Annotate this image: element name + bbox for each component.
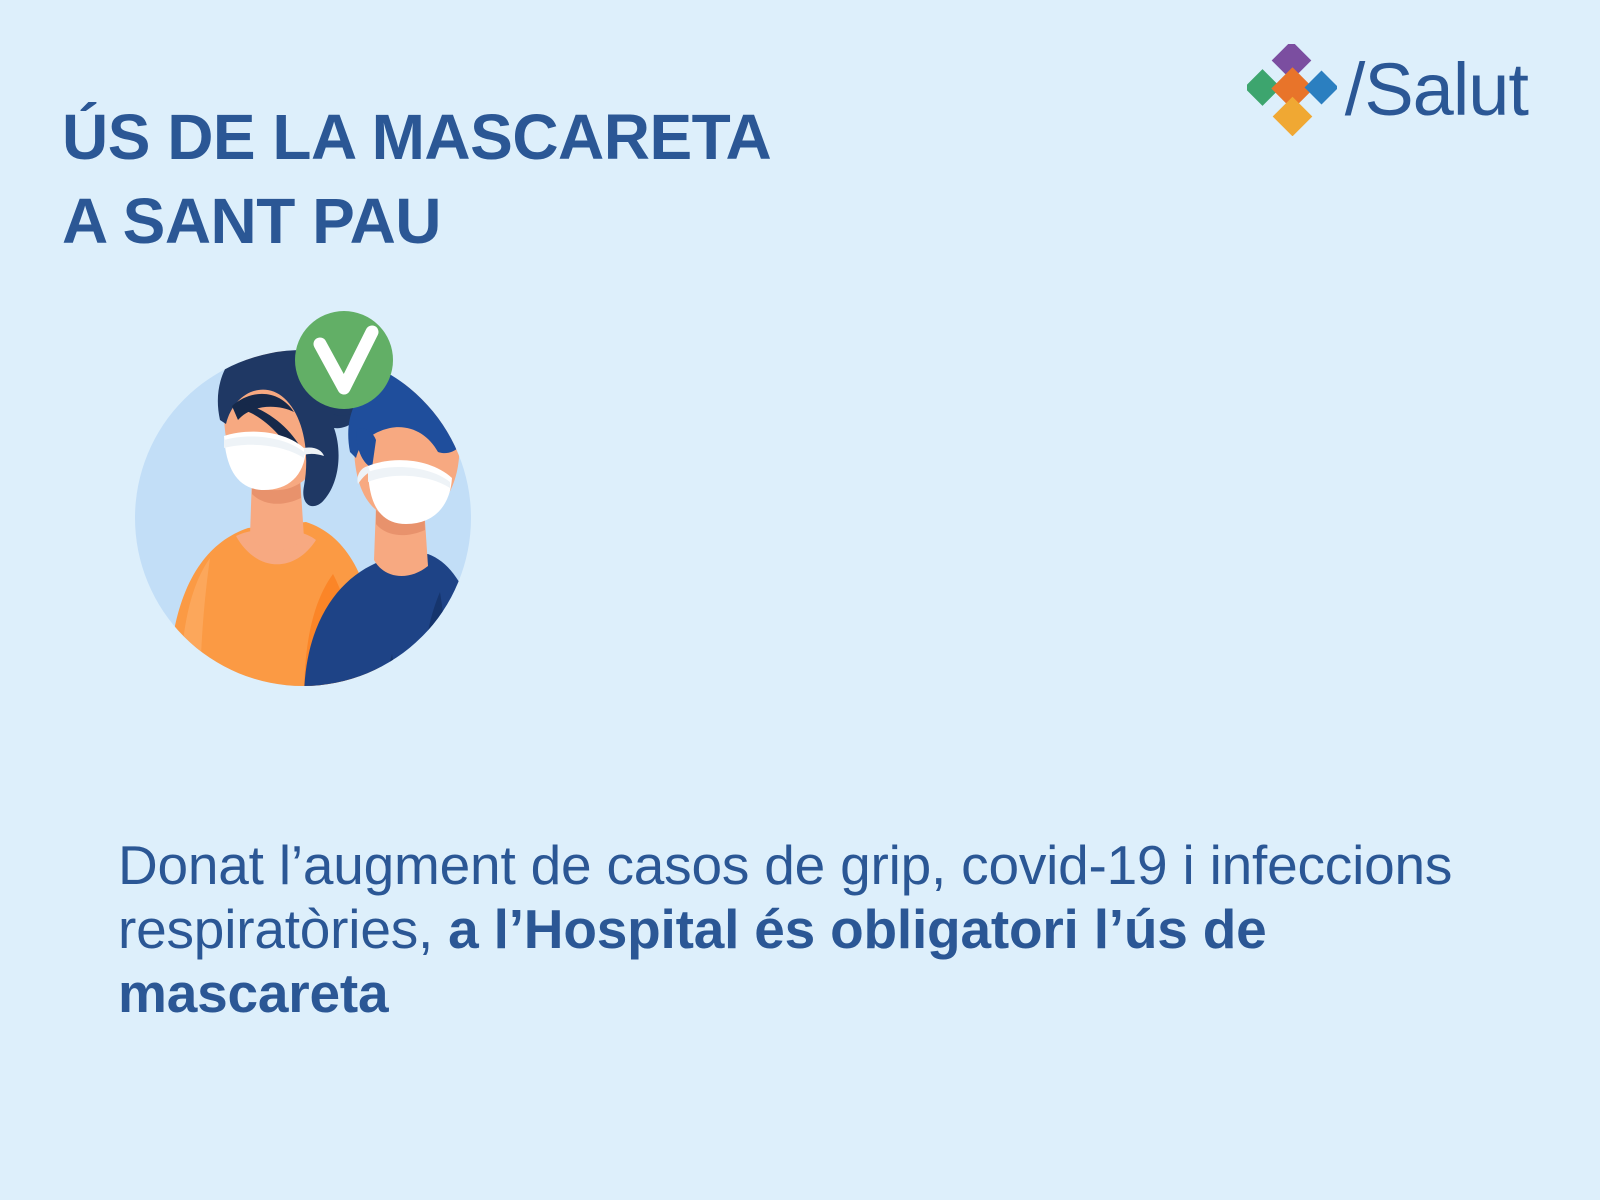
page-title: ÚS DE LA MASCARETA A SANT PAU (62, 95, 1062, 263)
two-people-wearing-masks-illustration (128, 300, 488, 700)
illustration-svg (128, 300, 488, 700)
poster-root: ÚS DE LA MASCARETA A SANT PAU /Salut (0, 0, 1600, 1200)
brand-wordmark: /Salut (1345, 53, 1528, 127)
brand-logo: /Salut (1247, 44, 1528, 136)
green-check-badge (295, 311, 393, 409)
body-copy: Donat l’augment de casos de grip, covid-… (118, 833, 1518, 1025)
generalitat-diamonds-logo-icon (1247, 44, 1337, 136)
